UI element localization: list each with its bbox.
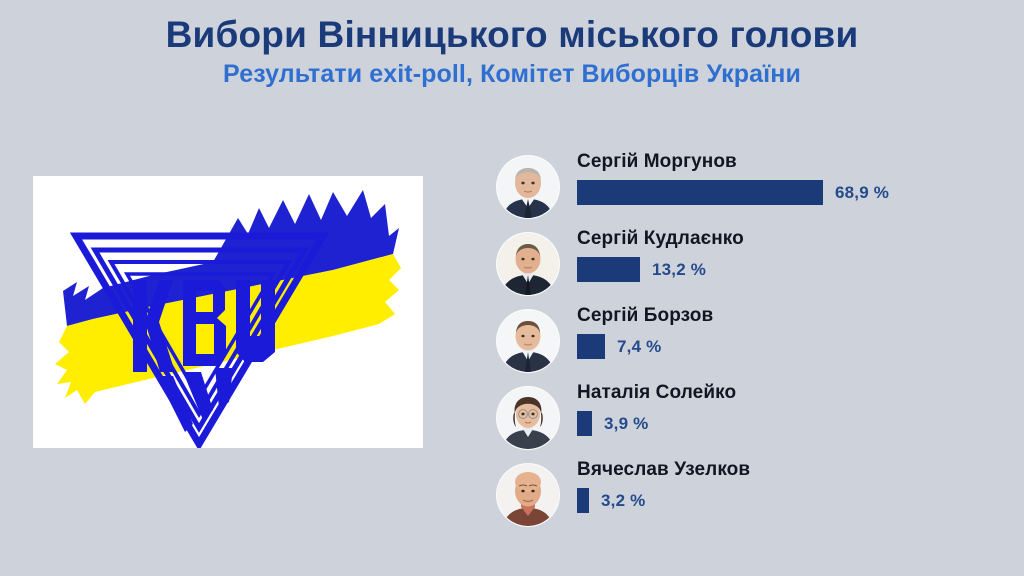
avatar-nataliia-soleiko bbox=[497, 387, 559, 449]
avatar-serhii-borzov bbox=[497, 310, 559, 372]
result-body: Сергій Моргунов 68,9 % bbox=[577, 148, 997, 205]
avatar bbox=[497, 156, 559, 218]
bar-line: 3,9 % bbox=[577, 411, 997, 436]
candidate-name: Сергій Борзов bbox=[577, 302, 997, 325]
result-bar bbox=[577, 488, 589, 513]
logo-panel bbox=[33, 176, 423, 448]
result-bar bbox=[577, 334, 605, 359]
bar-line: 68,9 % bbox=[577, 180, 997, 205]
avatar bbox=[497, 387, 559, 449]
result-body: Сергій Борзов 7,4 % bbox=[577, 302, 997, 359]
bar-line: 7,4 % bbox=[577, 334, 997, 359]
avatar-viacheslav-uzelkov bbox=[497, 464, 559, 526]
percent-label: 13,2 % bbox=[652, 260, 706, 280]
percent-label: 3,2 % bbox=[601, 491, 645, 511]
kvu-logo-icon bbox=[33, 176, 423, 448]
result-body: Сергій Кудлаєнко 13,2 % bbox=[577, 225, 997, 282]
result-row[interactable]: Сергій Кудлаєнко 13,2 % bbox=[497, 225, 997, 302]
candidate-name: Сергій Кудлаєнко bbox=[577, 225, 997, 248]
bar-line: 13,2 % bbox=[577, 257, 997, 282]
result-row[interactable]: Наталія Солейко 3,9 % bbox=[497, 379, 997, 456]
avatar bbox=[497, 310, 559, 372]
avatar-serhii-morhunov bbox=[497, 156, 559, 218]
header: Вибори Вінницького міського голови Резул… bbox=[0, 14, 1024, 89]
result-body: Наталія Солейко 3,9 % bbox=[577, 379, 997, 436]
result-row[interactable]: Сергій Моргунов 68,9 % bbox=[497, 148, 997, 225]
result-bar bbox=[577, 257, 640, 282]
percent-label: 7,4 % bbox=[617, 337, 661, 357]
result-bar bbox=[577, 411, 592, 436]
result-row[interactable]: Вячеслав Узелков 3,2 % bbox=[497, 456, 997, 533]
results-list: Сергій Моргунов 68,9 % bbox=[497, 148, 997, 533]
candidate-name: Сергій Моргунов bbox=[577, 148, 997, 171]
result-row[interactable]: Сергій Борзов 7,4 % bbox=[497, 302, 997, 379]
candidate-name: Наталія Солейко bbox=[577, 379, 997, 402]
candidate-name: Вячеслав Узелков bbox=[577, 456, 997, 479]
percent-label: 3,9 % bbox=[604, 414, 648, 434]
avatar bbox=[497, 233, 559, 295]
page-subtitle: Результати exit-poll, Комітет Виборців У… bbox=[0, 61, 1024, 89]
bar-line: 3,2 % bbox=[577, 488, 997, 513]
result-bar bbox=[577, 180, 823, 205]
page-title: Вибори Вінницького міського голови bbox=[0, 14, 1024, 55]
result-body: Вячеслав Узелков 3,2 % bbox=[577, 456, 997, 513]
percent-label: 68,9 % bbox=[835, 183, 889, 203]
avatar-serhii-kudlaienko bbox=[497, 233, 559, 295]
avatar bbox=[497, 464, 559, 526]
